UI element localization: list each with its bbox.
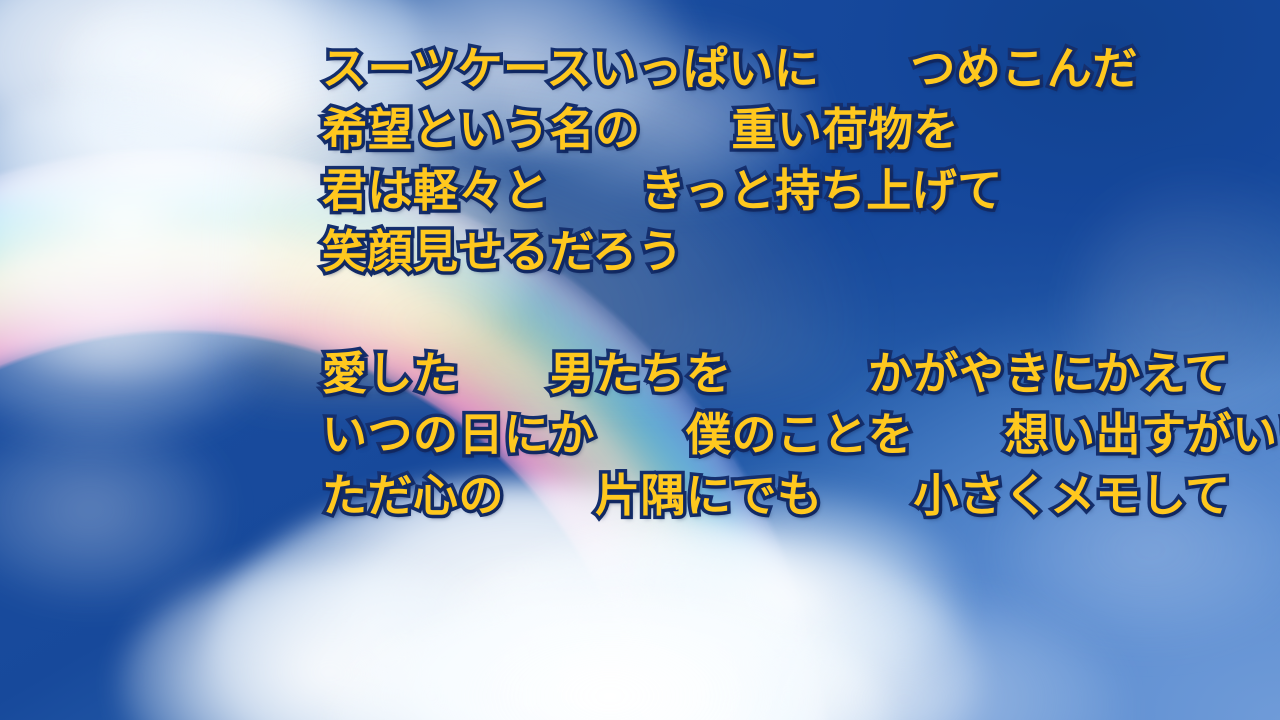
lyric-line-1: スーツケースいっぱいに つめこんだ	[322, 38, 1262, 99]
lyric-line-5: 愛した 男たちを かがやきにかえて	[322, 343, 1262, 404]
video-frame: スーツケースいっぱいに つめこんだ 希望という名の 重い荷物を 君は軽々と きっ…	[0, 0, 1280, 720]
lyric-line-spacer	[322, 282, 1262, 343]
cloud	[420, 530, 980, 720]
lyrics-overlay: スーツケースいっぱいに つめこんだ 希望という名の 重い荷物を 君は軽々と きっ…	[322, 38, 1262, 526]
lyric-line-7: ただ心の 片隅にでも 小さくメモして	[322, 465, 1262, 526]
cloud	[120, 560, 540, 720]
lyric-line-3: 君は軽々と きっと持ち上げて	[322, 160, 1262, 221]
lyric-line-6: いつの日にか 僕のことを 想い出すがいい	[322, 404, 1262, 465]
lyric-line-4: 笑顔見せるだろう	[322, 221, 1262, 282]
cloud	[760, 600, 1120, 720]
cloud	[330, 600, 890, 720]
lyric-line-2: 希望という名の 重い荷物を	[322, 99, 1262, 160]
